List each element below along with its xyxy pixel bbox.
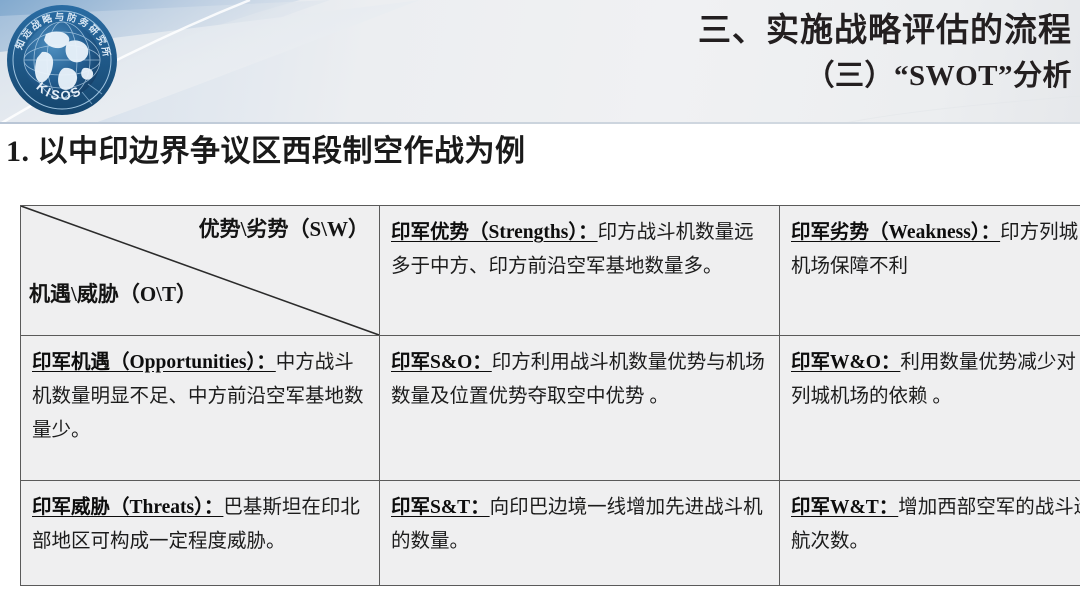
cell-weaknesses: 印军劣势（Weakness）：印方列城机场保障不利 [780, 206, 1080, 336]
cell-threats: 印军威胁（Threats）：巴基斯坦在印北部地区可构成一定程度威胁。 [21, 481, 380, 586]
cell-st-strategy: 印军S&T：向印巴边境一线增加先进战斗机的数量。 [380, 481, 780, 586]
cell-label: 印军W&T： [791, 497, 898, 518]
swot-matrix-table: 优势\劣势（S\W） 机遇\威胁（O\T） 印军优势（Strengths）：印方… [20, 205, 1080, 586]
section-subtitle: 1. 以中印边界争议区西段制空作战为例 [6, 126, 526, 170]
kisos-institute-logo: 知远战略与防务研究所 KISOS [6, 4, 118, 116]
header-banner: 知远战略与防务研究所 KISOS 三、实施战略评估的流程 （三）“SWOT”分析 [0, 0, 1080, 124]
cell-label: 印军S&T： [391, 497, 490, 518]
cell-wt-strategy: 印军W&T：增加西部空军的战斗巡航次数。 [780, 481, 1080, 586]
cell-strengths: 印军优势（Strengths）：印方战斗机数量远多于中方、印方前沿空军基地数量多… [380, 206, 780, 336]
cell-label: 印军劣势（Weakness）： [791, 222, 1000, 243]
cell-label: 印军机遇（Opportunities）： [32, 352, 276, 373]
cell-label: 印军优势（Strengths）： [391, 222, 598, 243]
banner-bottom-rule [0, 122, 1080, 124]
header-titles: 三、实施战略评估的流程 （三）“SWOT”分析 [472, 8, 1072, 98]
page-title: 三、实施战略评估的流程 [472, 8, 1072, 54]
cell-label: 印军S&O： [391, 352, 492, 373]
page-subtitle: （三）“SWOT”分析 [472, 54, 1072, 98]
cell-label: 印军威胁（Threats）： [32, 497, 223, 518]
corner-label-opportunities-threats: 机遇\威胁（O\T） [29, 277, 197, 311]
table-row: 印军威胁（Threats）：巴基斯坦在印北部地区可构成一定程度威胁。 印军S&T… [21, 481, 1080, 586]
corner-label-strengths-weaknesses: 优势\劣势（S\W） [199, 212, 369, 246]
cell-label: 印军W&O： [791, 352, 900, 373]
cell-opportunities: 印军机遇（Opportunities）：中方战斗机数量明显不足、中方前沿空军基地… [21, 336, 380, 481]
table-row: 印军机遇（Opportunities）：中方战斗机数量明显不足、中方前沿空军基地… [21, 336, 1080, 481]
table-row: 优势\劣势（S\W） 机遇\威胁（O\T） 印军优势（Strengths）：印方… [21, 206, 1080, 336]
cell-so-strategy: 印军S&O：印方利用战斗机数量优势与机场数量及位置优势夺取空中优势 。 [380, 336, 780, 481]
cell-wo-strategy: 印军W&O：利用数量优势减少对列城机场的依赖 。 [780, 336, 1080, 481]
swot-corner-header-cell: 优势\劣势（S\W） 机遇\威胁（O\T） [21, 206, 380, 336]
